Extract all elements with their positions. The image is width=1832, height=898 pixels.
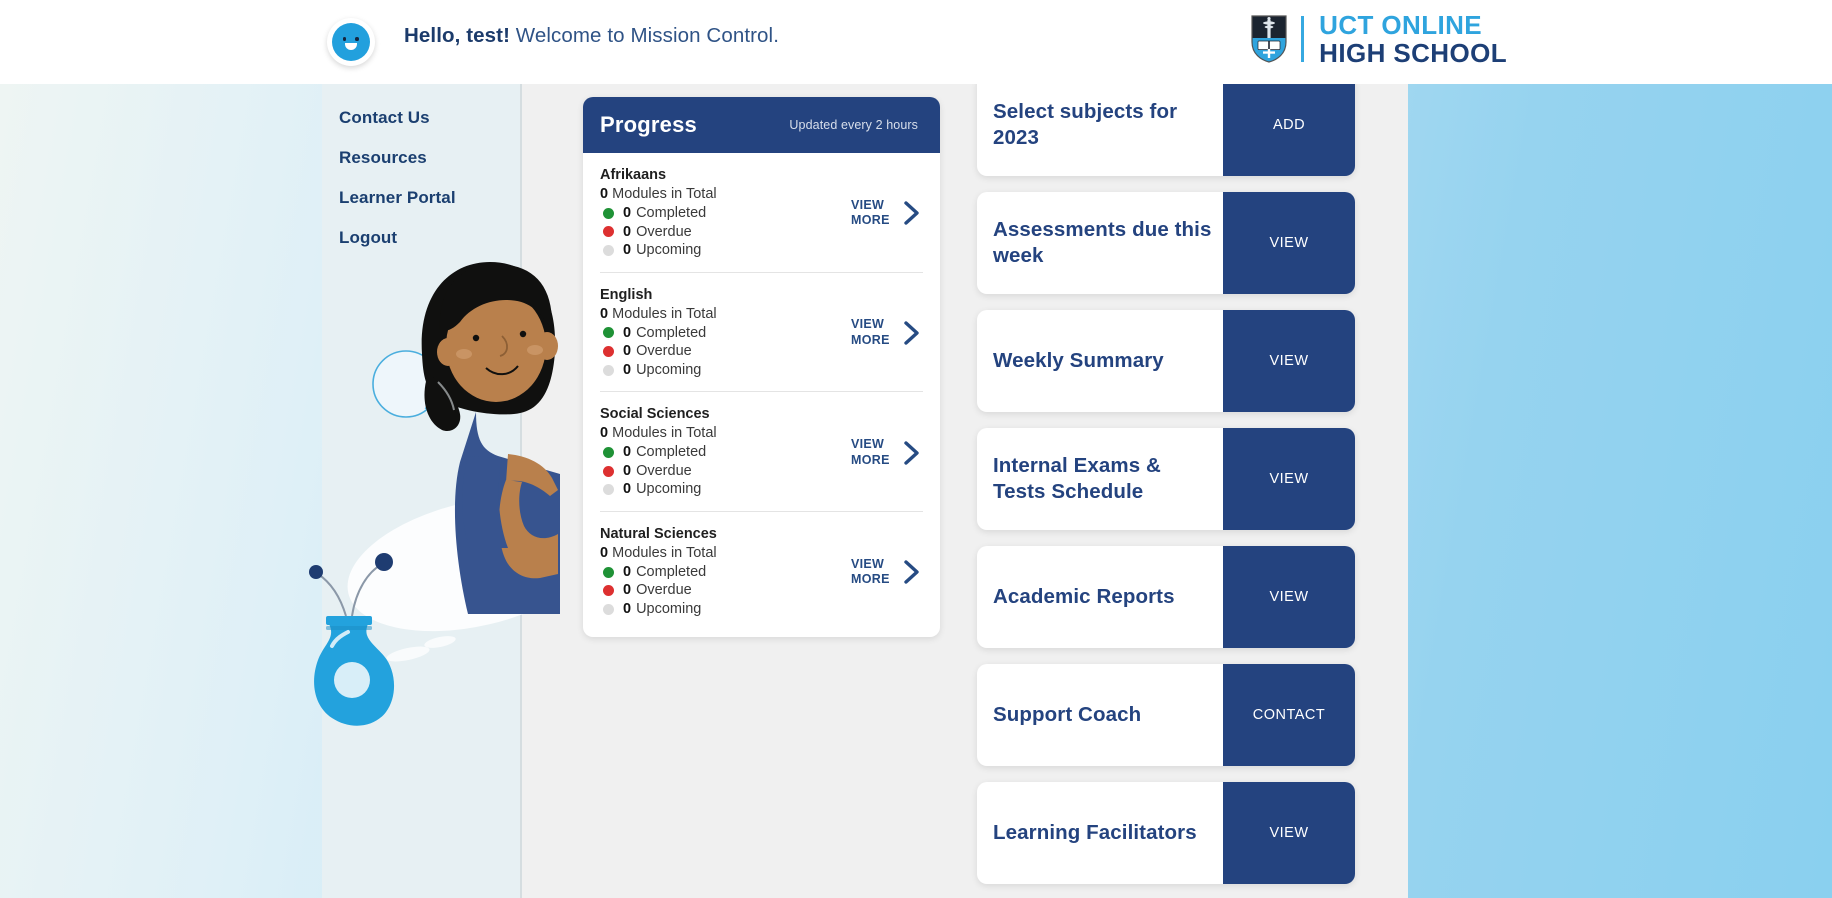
greeting-name: Hello, test! bbox=[404, 24, 510, 47]
subject-name: Afrikaans bbox=[600, 167, 851, 183]
action-card-assessments-due[interactable]: Assessments due this week VIEW bbox=[977, 192, 1355, 294]
subject-modules-total: 0 Modules in Total bbox=[600, 306, 851, 322]
smiley-face-avatar-icon bbox=[332, 23, 370, 61]
sidebar-item-resources[interactable]: Resources bbox=[339, 148, 539, 168]
page-header: Hello, test! Welcome to Mission Control.… bbox=[0, 0, 1832, 84]
logo-divider bbox=[1301, 16, 1304, 62]
overdue-dot-icon bbox=[603, 466, 614, 477]
subject-stat-upcoming: 0 Upcoming bbox=[600, 600, 851, 619]
upcoming-count: 0 bbox=[623, 241, 631, 260]
chevron-right-icon bbox=[903, 559, 921, 585]
view-more-label: VIEW MORE bbox=[851, 317, 895, 348]
sidebar-item-contact-us[interactable]: Contact Us bbox=[339, 108, 539, 128]
overdue-count: 0 bbox=[623, 462, 631, 481]
view-more-label: VIEW MORE bbox=[851, 198, 895, 229]
subject-modules-total-label: Modules in Total bbox=[612, 306, 717, 322]
avatar-eye-left bbox=[343, 37, 347, 41]
logo-line-one: UCT ONLINE bbox=[1319, 12, 1507, 38]
upcoming-dot-icon bbox=[603, 604, 614, 615]
action-card-learning-facilitators[interactable]: Learning Facilitators VIEW bbox=[977, 782, 1355, 884]
subject-stat-upcoming: 0 Upcoming bbox=[600, 480, 851, 499]
chevron-right-icon bbox=[903, 320, 921, 346]
overdue-label: Overdue bbox=[636, 342, 692, 361]
completed-dot-icon bbox=[603, 567, 614, 578]
completed-label: Completed bbox=[636, 324, 706, 343]
view-more-button[interactable]: VIEW MORE bbox=[851, 317, 923, 348]
overdue-count: 0 bbox=[623, 581, 631, 600]
upcoming-dot-icon bbox=[603, 484, 614, 495]
action-card-support-coach[interactable]: Support Coach CONTACT bbox=[977, 664, 1355, 766]
view-more-button[interactable]: VIEW MORE bbox=[851, 557, 923, 588]
action-card-label: Support Coach bbox=[977, 702, 1223, 728]
subject-stat-upcoming: 0 Upcoming bbox=[600, 361, 851, 380]
view-more-label: VIEW MORE bbox=[851, 437, 895, 468]
chevron-right-icon bbox=[903, 200, 921, 226]
action-card-view-button[interactable]: VIEW bbox=[1223, 428, 1355, 530]
view-more-label: VIEW MORE bbox=[851, 557, 895, 588]
completed-count: 0 bbox=[623, 563, 631, 582]
upcoming-count: 0 bbox=[623, 361, 631, 380]
subject-row-social-sciences: Social Sciences 0 Modules in Total 0 Com… bbox=[600, 392, 923, 512]
subject-stat-completed: 0 Completed bbox=[600, 204, 851, 223]
action-card-academic-reports[interactable]: Academic Reports VIEW bbox=[977, 546, 1355, 648]
completed-count: 0 bbox=[623, 324, 631, 343]
overdue-dot-icon bbox=[603, 226, 614, 237]
completed-count: 0 bbox=[623, 204, 631, 223]
sidebar-item-logout[interactable]: Logout bbox=[339, 228, 539, 248]
action-card-internal-exams[interactable]: Internal Exams & Tests Schedule VIEW bbox=[977, 428, 1355, 530]
progress-card-header: Progress Updated every 2 hours bbox=[583, 97, 940, 153]
avatar[interactable] bbox=[327, 18, 375, 66]
completed-dot-icon bbox=[603, 327, 614, 338]
action-card-label: Academic Reports bbox=[977, 584, 1223, 610]
action-card-label: Select subjects for 2023 bbox=[977, 99, 1223, 151]
subject-stat-completed: 0 Completed bbox=[600, 563, 851, 582]
completed-label: Completed bbox=[636, 563, 706, 582]
subject-row-afrikaans: Afrikaans 0 Modules in Total 0 Completed… bbox=[600, 153, 923, 273]
overdue-count: 0 bbox=[623, 223, 631, 242]
action-card-add-button[interactable]: ADD bbox=[1223, 84, 1355, 176]
overdue-dot-icon bbox=[603, 585, 614, 596]
subject-row-english: English 0 Modules in Total 0 Completed 0… bbox=[600, 273, 923, 393]
action-card-view-button[interactable]: VIEW bbox=[1223, 782, 1355, 884]
sidebar-item-learner-portal[interactable]: Learner Portal bbox=[339, 188, 539, 208]
subject-name: English bbox=[600, 287, 851, 303]
progress-card-body: Afrikaans 0 Modules in Total 0 Completed… bbox=[583, 153, 940, 637]
greeting-welcome: Welcome to Mission Control. bbox=[510, 24, 779, 47]
completed-dot-icon bbox=[603, 447, 614, 458]
subject-stat-overdue: 0 Overdue bbox=[600, 581, 851, 600]
upcoming-label: Upcoming bbox=[636, 480, 701, 499]
subject-name: Natural Sciences bbox=[600, 526, 851, 542]
completed-label: Completed bbox=[636, 204, 706, 223]
subject-modules-total-label: Modules in Total bbox=[612, 545, 717, 561]
completed-dot-icon bbox=[603, 208, 614, 219]
sidebar-nav: Contact Us Resources Learner Portal Logo… bbox=[339, 84, 539, 268]
logo-line-two: HIGH SCHOOL bbox=[1319, 40, 1507, 66]
uct-logo: UCT ONLINE HIGH SCHOOL bbox=[1250, 12, 1507, 66]
overdue-label: Overdue bbox=[636, 462, 692, 481]
upcoming-dot-icon bbox=[603, 365, 614, 376]
subject-stat-overdue: 0 Overdue bbox=[600, 342, 851, 361]
page-body: Contact Us Resources Learner Portal Logo… bbox=[0, 84, 1832, 898]
subject-stat-completed: 0 Completed bbox=[600, 443, 851, 462]
subject-stat-upcoming: 0 Upcoming bbox=[600, 241, 851, 260]
avatar-eye-right bbox=[355, 37, 359, 41]
subject-modules-total-label: Modules in Total bbox=[612, 425, 717, 441]
subject-stat-overdue: 0 Overdue bbox=[600, 223, 851, 242]
action-card-label: Internal Exams & Tests Schedule bbox=[977, 453, 1223, 505]
action-card-select-subjects[interactable]: Select subjects for 2023 ADD bbox=[977, 84, 1355, 176]
action-card-label: Learning Facilitators bbox=[977, 820, 1223, 846]
overdue-dot-icon bbox=[603, 346, 614, 357]
completed-count: 0 bbox=[623, 443, 631, 462]
upcoming-dot-icon bbox=[603, 245, 614, 256]
subject-modules-total: 0 Modules in Total bbox=[600, 545, 851, 561]
progress-card: Progress Updated every 2 hours Afrikaans… bbox=[583, 97, 940, 637]
action-card-view-button[interactable]: VIEW bbox=[1223, 192, 1355, 294]
uct-shield-crest-icon bbox=[1250, 14, 1288, 64]
action-card-weekly-summary[interactable]: Weekly Summary VIEW bbox=[977, 310, 1355, 412]
subject-name: Social Sciences bbox=[600, 406, 851, 422]
progress-updated-note: Updated every 2 hours bbox=[789, 118, 918, 132]
progress-title: Progress bbox=[600, 112, 697, 138]
action-card-contact-button[interactable]: CONTACT bbox=[1223, 664, 1355, 766]
subject-row-natural-sciences: Natural Sciences 0 Modules in Total 0 Co… bbox=[600, 512, 923, 637]
overdue-count: 0 bbox=[623, 342, 631, 361]
subject-modules-total-value: 0 bbox=[600, 545, 608, 561]
subject-modules-total: 0 Modules in Total bbox=[600, 186, 851, 202]
subject-modules-total-label: Modules in Total bbox=[612, 186, 717, 202]
subject-stat-completed: 0 Completed bbox=[600, 324, 851, 343]
subject-modules-total-value: 0 bbox=[600, 186, 608, 202]
subject-modules-total: 0 Modules in Total bbox=[600, 425, 851, 441]
subject-modules-total-value: 0 bbox=[600, 306, 608, 322]
upcoming-label: Upcoming bbox=[636, 241, 701, 260]
view-more-button[interactable]: VIEW MORE bbox=[851, 198, 923, 229]
overdue-label: Overdue bbox=[636, 223, 692, 242]
subject-modules-total-value: 0 bbox=[600, 425, 608, 441]
upcoming-count: 0 bbox=[623, 600, 631, 619]
subject-stat-overdue: 0 Overdue bbox=[600, 462, 851, 481]
view-more-button[interactable]: VIEW MORE bbox=[851, 437, 923, 468]
action-card-label: Weekly Summary bbox=[977, 348, 1223, 374]
action-cards-list: Select subjects for 2023 ADD Assessments… bbox=[977, 84, 1355, 898]
overdue-label: Overdue bbox=[636, 581, 692, 600]
action-card-view-button[interactable]: VIEW bbox=[1223, 546, 1355, 648]
action-card-view-button[interactable]: VIEW bbox=[1223, 310, 1355, 412]
avatar-smile bbox=[345, 43, 357, 50]
action-card-label: Assessments due this week bbox=[977, 217, 1223, 269]
upcoming-label: Upcoming bbox=[636, 361, 701, 380]
greeting-text: Hello, test! Welcome to Mission Control. bbox=[404, 24, 779, 48]
completed-label: Completed bbox=[636, 443, 706, 462]
upcoming-count: 0 bbox=[623, 480, 631, 499]
upcoming-label: Upcoming bbox=[636, 600, 701, 619]
chevron-right-icon bbox=[903, 440, 921, 466]
